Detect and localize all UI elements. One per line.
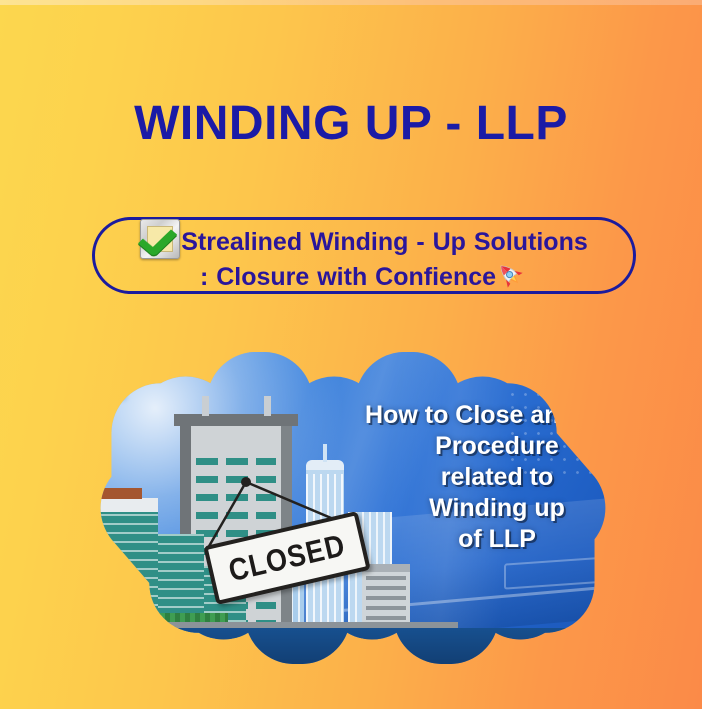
page-title: WINDING UP - LLP: [0, 95, 702, 153]
poster-canvas: WINDING UP - LLP Strealined Winding - Up…: [0, 0, 702, 709]
headline-line-5: of LLP: [364, 524, 630, 555]
ground-band: [62, 628, 644, 664]
illustration-clipped-area: CLOSED How to Close an LLP? Procedure re…: [62, 352, 644, 664]
subtitle-line-1: Strealined Winding - Up Solutions: [181, 228, 588, 256]
blue-accent-square: [82, 366, 126, 400]
building-teal-large: [84, 498, 158, 638]
headline-line-3: related to: [364, 462, 630, 493]
hedge-row: [140, 613, 228, 622]
illustration-card: CLOSED How to Close an LLP? Procedure re…: [62, 352, 644, 664]
closed-sign-group: CLOSED: [184, 474, 394, 594]
subtitle-banner: Strealined Winding - Up Solutions : Clos…: [92, 217, 636, 294]
headline-line-2: Procedure: [364, 431, 630, 462]
headline-line-1: How to Close an LLP?: [364, 400, 630, 431]
top-highlight-strip: [0, 0, 702, 5]
subtitle-line-2: : Closure with Confience: [200, 263, 496, 291]
rocket-icon: [494, 259, 528, 293]
subtitle-text-block: Strealined Winding - Up Solutions : Clos…: [132, 219, 596, 293]
check-mark-icon: [140, 219, 180, 259]
illustration-headline: How to Close an LLP? Procedure related t…: [364, 400, 630, 555]
headline-line-4: Winding up: [364, 493, 630, 524]
